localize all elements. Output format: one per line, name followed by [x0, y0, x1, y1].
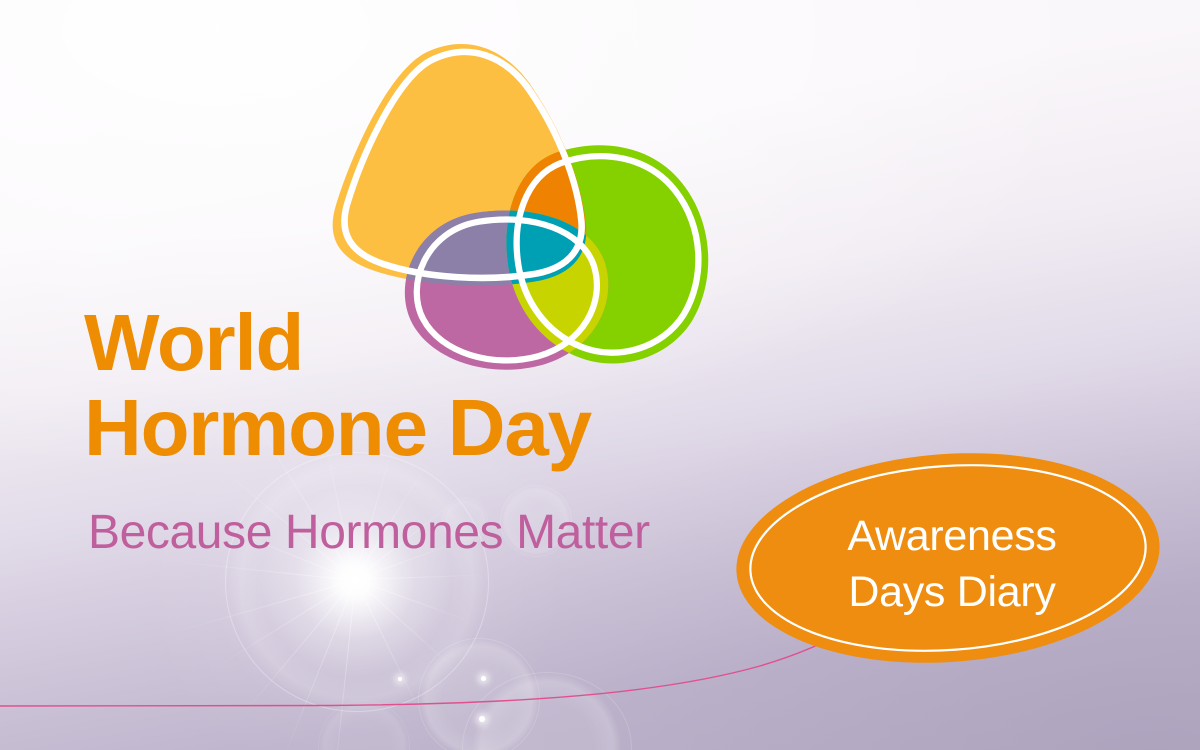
- wordmark-line-2: Hormone Day: [84, 385, 591, 470]
- wordmark: World Hormone Day: [84, 300, 591, 470]
- poster-canvas: World Hormone Day Because Hormones Matte…: [0, 0, 1200, 750]
- badge-ellipse-fill: [729, 440, 1166, 677]
- wordmark-line-1: World: [84, 300, 591, 385]
- awareness-days-diary-badge[interactable]: [728, 440, 1168, 680]
- tagline: Because Hormones Matter: [88, 505, 650, 561]
